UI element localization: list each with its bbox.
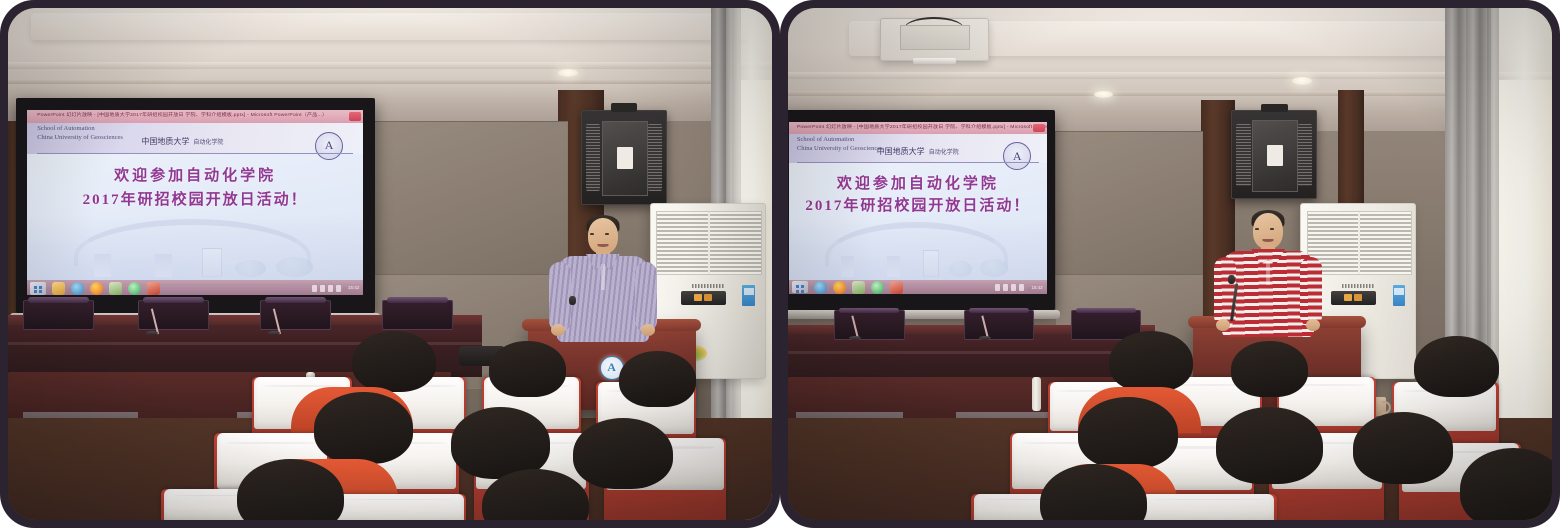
speaker-left bbox=[543, 218, 663, 348]
dais-chair[interactable] bbox=[382, 300, 453, 330]
speaker-hand bbox=[1216, 319, 1230, 331]
campus-pillar bbox=[155, 254, 172, 277]
system-tray[interactable]: 15:42 bbox=[312, 285, 359, 292]
speaker-eye bbox=[1255, 228, 1259, 230]
speaker-driver bbox=[602, 121, 648, 197]
slide-header-english: School of Automation China University of… bbox=[797, 136, 883, 154]
slide-header-en-line1: School of Automation bbox=[797, 136, 854, 143]
speaker-mouth bbox=[1263, 239, 1274, 242]
university-emblem-icon: A bbox=[1003, 142, 1031, 170]
firefox-icon[interactable] bbox=[90, 282, 103, 295]
powerpoint-titlebar-text: PowerPoint 幻灯片放映 - [中国地质大学2017年研招校园开放日 学… bbox=[37, 112, 327, 118]
slide-header-english: School of Automation China University of… bbox=[37, 125, 123, 143]
slide-header-cn-sub: 自动化学院 bbox=[193, 140, 223, 146]
room-left: PowerPoint 幻灯片放映 - [中国地质大学2017年研招校园开放日 学… bbox=[8, 8, 772, 520]
audience-seat[interactable] bbox=[1139, 494, 1277, 520]
ac-grille bbox=[656, 211, 761, 276]
ac-brand bbox=[1342, 284, 1374, 288]
powerpoint-icon[interactable] bbox=[890, 281, 903, 294]
microphone-base bbox=[849, 336, 861, 340]
media-player-icon[interactable] bbox=[109, 282, 122, 295]
campus-pillar bbox=[841, 256, 854, 277]
speaker-arm-right bbox=[1300, 257, 1322, 327]
dais-chair[interactable] bbox=[138, 300, 209, 330]
ac-energy-label bbox=[1393, 285, 1406, 306]
projector-lens bbox=[913, 58, 956, 64]
wall-panel bbox=[367, 121, 568, 277]
slide-title-line2: 2017年研招校园开放日活动！ bbox=[789, 194, 1046, 215]
campus-pillar bbox=[887, 256, 900, 277]
campus-pillar bbox=[94, 254, 111, 277]
audience-head bbox=[489, 341, 565, 397]
speaker-mount bbox=[1261, 104, 1288, 113]
slide-header-chinese: 中国地质大学自动化学院 bbox=[877, 146, 959, 157]
speaker-mount bbox=[611, 103, 638, 112]
speaker-eye bbox=[1270, 228, 1274, 230]
speaker-head bbox=[1253, 213, 1283, 249]
internet-explorer-icon[interactable] bbox=[71, 282, 84, 295]
university-emblem-icon: A bbox=[315, 132, 343, 160]
speaker-right bbox=[1208, 213, 1328, 343]
slide-header-band: School of Automation China University of… bbox=[27, 123, 363, 154]
speaker-eye bbox=[605, 233, 609, 235]
slide-header-en-line2: China University of Geosciences bbox=[797, 145, 883, 152]
system-tray[interactable]: 15:42 bbox=[995, 284, 1042, 291]
speaker-driver bbox=[1252, 120, 1298, 192]
campus-tree bbox=[949, 261, 972, 277]
powerpoint-icon[interactable] bbox=[147, 282, 160, 295]
slide-surface: PowerPoint 幻灯片放映 - [中国地质大学2017年研招校园开放日 学… bbox=[789, 122, 1046, 294]
speaker-placket bbox=[601, 264, 605, 290]
audience-head bbox=[1216, 407, 1323, 484]
ac-energy-label bbox=[742, 285, 755, 306]
dais-chair[interactable] bbox=[964, 310, 1035, 340]
dais-chair[interactable] bbox=[260, 300, 331, 330]
taskbar-clock: 15:42 bbox=[1031, 285, 1042, 290]
speaker-hand bbox=[1306, 319, 1320, 331]
powerpoint-titlebar: PowerPoint 幻灯片放映 - [中国地质大学2017年研招校园开放日 学… bbox=[27, 110, 363, 123]
clip-microphone-icon bbox=[569, 296, 576, 305]
campus-stele bbox=[923, 250, 939, 277]
ceiling-downlight bbox=[1094, 91, 1114, 99]
photo-left: PowerPoint 幻灯片放映 - [中国地质大学2017年研招校园开放日 学… bbox=[0, 0, 780, 528]
taskbar-clock: 15:42 bbox=[348, 285, 359, 290]
campus-tree bbox=[235, 260, 265, 277]
jbl-wall-speaker bbox=[581, 110, 667, 204]
room-right: PowerPoint 幻灯片放映 - [中国地质大学2017年研招校园开放日 学… bbox=[788, 8, 1552, 520]
audience-seat[interactable] bbox=[329, 494, 467, 520]
windows-taskbar: 15:42 bbox=[789, 280, 1046, 294]
speaker-eye bbox=[590, 233, 594, 235]
slide-title-line1: 欢迎参加自动化学院 bbox=[27, 164, 363, 185]
dais-chair[interactable] bbox=[23, 300, 94, 330]
slide-title-line1: 欢迎参加自动化学院 bbox=[789, 172, 1046, 193]
slide-title-line2: 2017年研招校园开放日活动！ bbox=[27, 188, 363, 209]
speaker-mouth bbox=[597, 244, 608, 247]
audience-head bbox=[1078, 397, 1177, 469]
internet-explorer-icon[interactable] bbox=[814, 281, 827, 294]
qq-icon[interactable] bbox=[128, 282, 141, 295]
projection-screen: PowerPoint 幻灯片放映 - [中国地质大学2017年研招校园开放日 学… bbox=[788, 110, 1055, 310]
speaker-head bbox=[588, 218, 618, 254]
slide-header-rule bbox=[37, 153, 353, 154]
microphone-capsule-icon bbox=[1228, 275, 1235, 284]
slide-header-chinese: 中国地质大学自动化学院 bbox=[141, 136, 223, 147]
ac-display-panel[interactable] bbox=[1331, 291, 1377, 305]
slide-header-rule bbox=[797, 162, 1039, 163]
close-icon[interactable] bbox=[1033, 124, 1045, 132]
slide-header-cn-main: 中国地质大学 bbox=[141, 137, 189, 146]
photo-right: PowerPoint 幻灯片放映 - [中国地质大学2017年研招校园开放日 学… bbox=[780, 0, 1560, 528]
microphone-base bbox=[979, 336, 991, 340]
audience-head bbox=[573, 418, 672, 490]
wall-panel bbox=[1055, 131, 1202, 276]
slide-header-cn-main: 中国地质大学 bbox=[877, 147, 925, 156]
ceiling-downlight bbox=[558, 69, 578, 77]
audience-head bbox=[619, 351, 695, 407]
speaker-placket bbox=[1266, 259, 1270, 285]
slide-header-band: School of Automation China University of… bbox=[789, 134, 1046, 163]
tumbler bbox=[1032, 377, 1041, 411]
windows-start-icon[interactable] bbox=[792, 281, 808, 293]
projector-io-plate bbox=[900, 25, 970, 50]
windows-taskbar: 15:42 bbox=[27, 280, 363, 296]
microphone-base bbox=[146, 331, 158, 335]
seat-cover bbox=[1142, 494, 1274, 520]
close-icon[interactable] bbox=[349, 112, 361, 121]
seat-cover bbox=[332, 494, 464, 520]
slide-campus-photo bbox=[27, 214, 363, 281]
dais-chair[interactable] bbox=[834, 310, 905, 340]
audience-head bbox=[352, 331, 436, 392]
audience-head bbox=[1414, 336, 1498, 397]
audience-head bbox=[1353, 412, 1452, 484]
audience-head bbox=[1231, 341, 1307, 397]
slide-header-en-line2: China University of Geosciences bbox=[37, 134, 123, 141]
qq-icon[interactable] bbox=[871, 281, 884, 294]
ac-brand bbox=[692, 284, 724, 288]
audience-head bbox=[1109, 331, 1193, 392]
audience-head bbox=[314, 392, 413, 464]
jbl-wall-speaker bbox=[1231, 110, 1317, 199]
slide-campus-photo bbox=[789, 219, 1046, 281]
dais-trim bbox=[788, 351, 1155, 353]
explorer-folder-icon[interactable] bbox=[52, 282, 65, 295]
microphone-base bbox=[268, 331, 280, 335]
powerpoint-titlebar-text: PowerPoint 幻灯片放映 - [中国地质大学2017年研招校园开放日 学… bbox=[797, 124, 1047, 130]
speaker-hand bbox=[641, 324, 655, 336]
slide-header-en-line1: School of Automation bbox=[37, 125, 94, 132]
slide-surface: PowerPoint 幻灯片放映 - [中国地质大学2017年研招校园开放日 学… bbox=[27, 110, 363, 295]
media-player-icon[interactable] bbox=[852, 281, 865, 294]
ac-display-panel[interactable] bbox=[681, 291, 727, 305]
ceiling-downlight bbox=[1292, 77, 1312, 85]
powerpoint-titlebar: PowerPoint 幻灯片放映 - [中国地质大学2017年研招校园开放日 学… bbox=[789, 122, 1046, 134]
projection-screen: PowerPoint 幻灯片放映 - [中国地质大学2017年研招校园开放日 学… bbox=[16, 98, 375, 313]
firefox-icon[interactable] bbox=[833, 281, 846, 294]
speaker-hand bbox=[551, 324, 565, 336]
campus-tree bbox=[276, 257, 313, 277]
campus-stele bbox=[202, 248, 222, 277]
ceiling-projector bbox=[880, 18, 989, 61]
campus-tree bbox=[980, 259, 1008, 278]
slide-header-cn-sub: 自动化学院 bbox=[929, 150, 959, 156]
windows-start-icon[interactable] bbox=[30, 282, 46, 295]
speaker-arm-left bbox=[549, 262, 571, 332]
photo-pair-figure: PowerPoint 幻灯片放映 - [中国地质大学2017年研招校园开放日 学… bbox=[0, 0, 1560, 528]
speaker-arm-right bbox=[635, 262, 657, 332]
